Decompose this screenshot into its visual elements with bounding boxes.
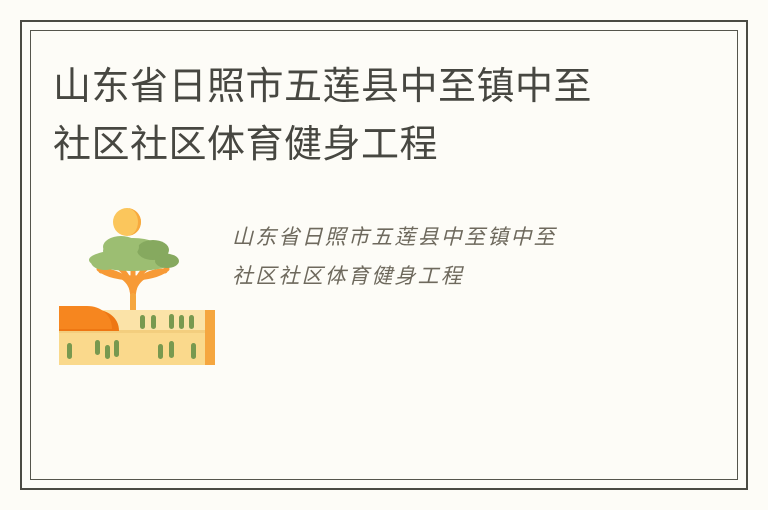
poster-canvas: 山东省日照市五莲县中至镇中至 社区社区体育健身工程 (0, 0, 768, 510)
sun-shape (113, 208, 141, 236)
tree-canopy (89, 236, 179, 271)
caption-text: 山东省日照市五莲县中至镇中至 社区社区体育健身工程 (232, 218, 672, 296)
ground-hill (59, 306, 119, 331)
landscape-tree-sun-icon (57, 205, 217, 365)
caption-line-2: 社区社区体育健身工程 (232, 257, 672, 296)
caption-line-1: 山东省日照市五莲县中至镇中至 (232, 218, 672, 257)
content-row: 山东省日照市五莲县中至镇中至 社区社区体育健身工程 (53, 196, 673, 371)
page-title: 山东省日照市五莲县中至镇中至 社区社区体育健身工程 (53, 58, 653, 174)
page-title-line-1: 山东省日照市五莲县中至镇中至 (53, 58, 653, 116)
page-title-line-2: 社区社区体育健身工程 (53, 116, 653, 174)
